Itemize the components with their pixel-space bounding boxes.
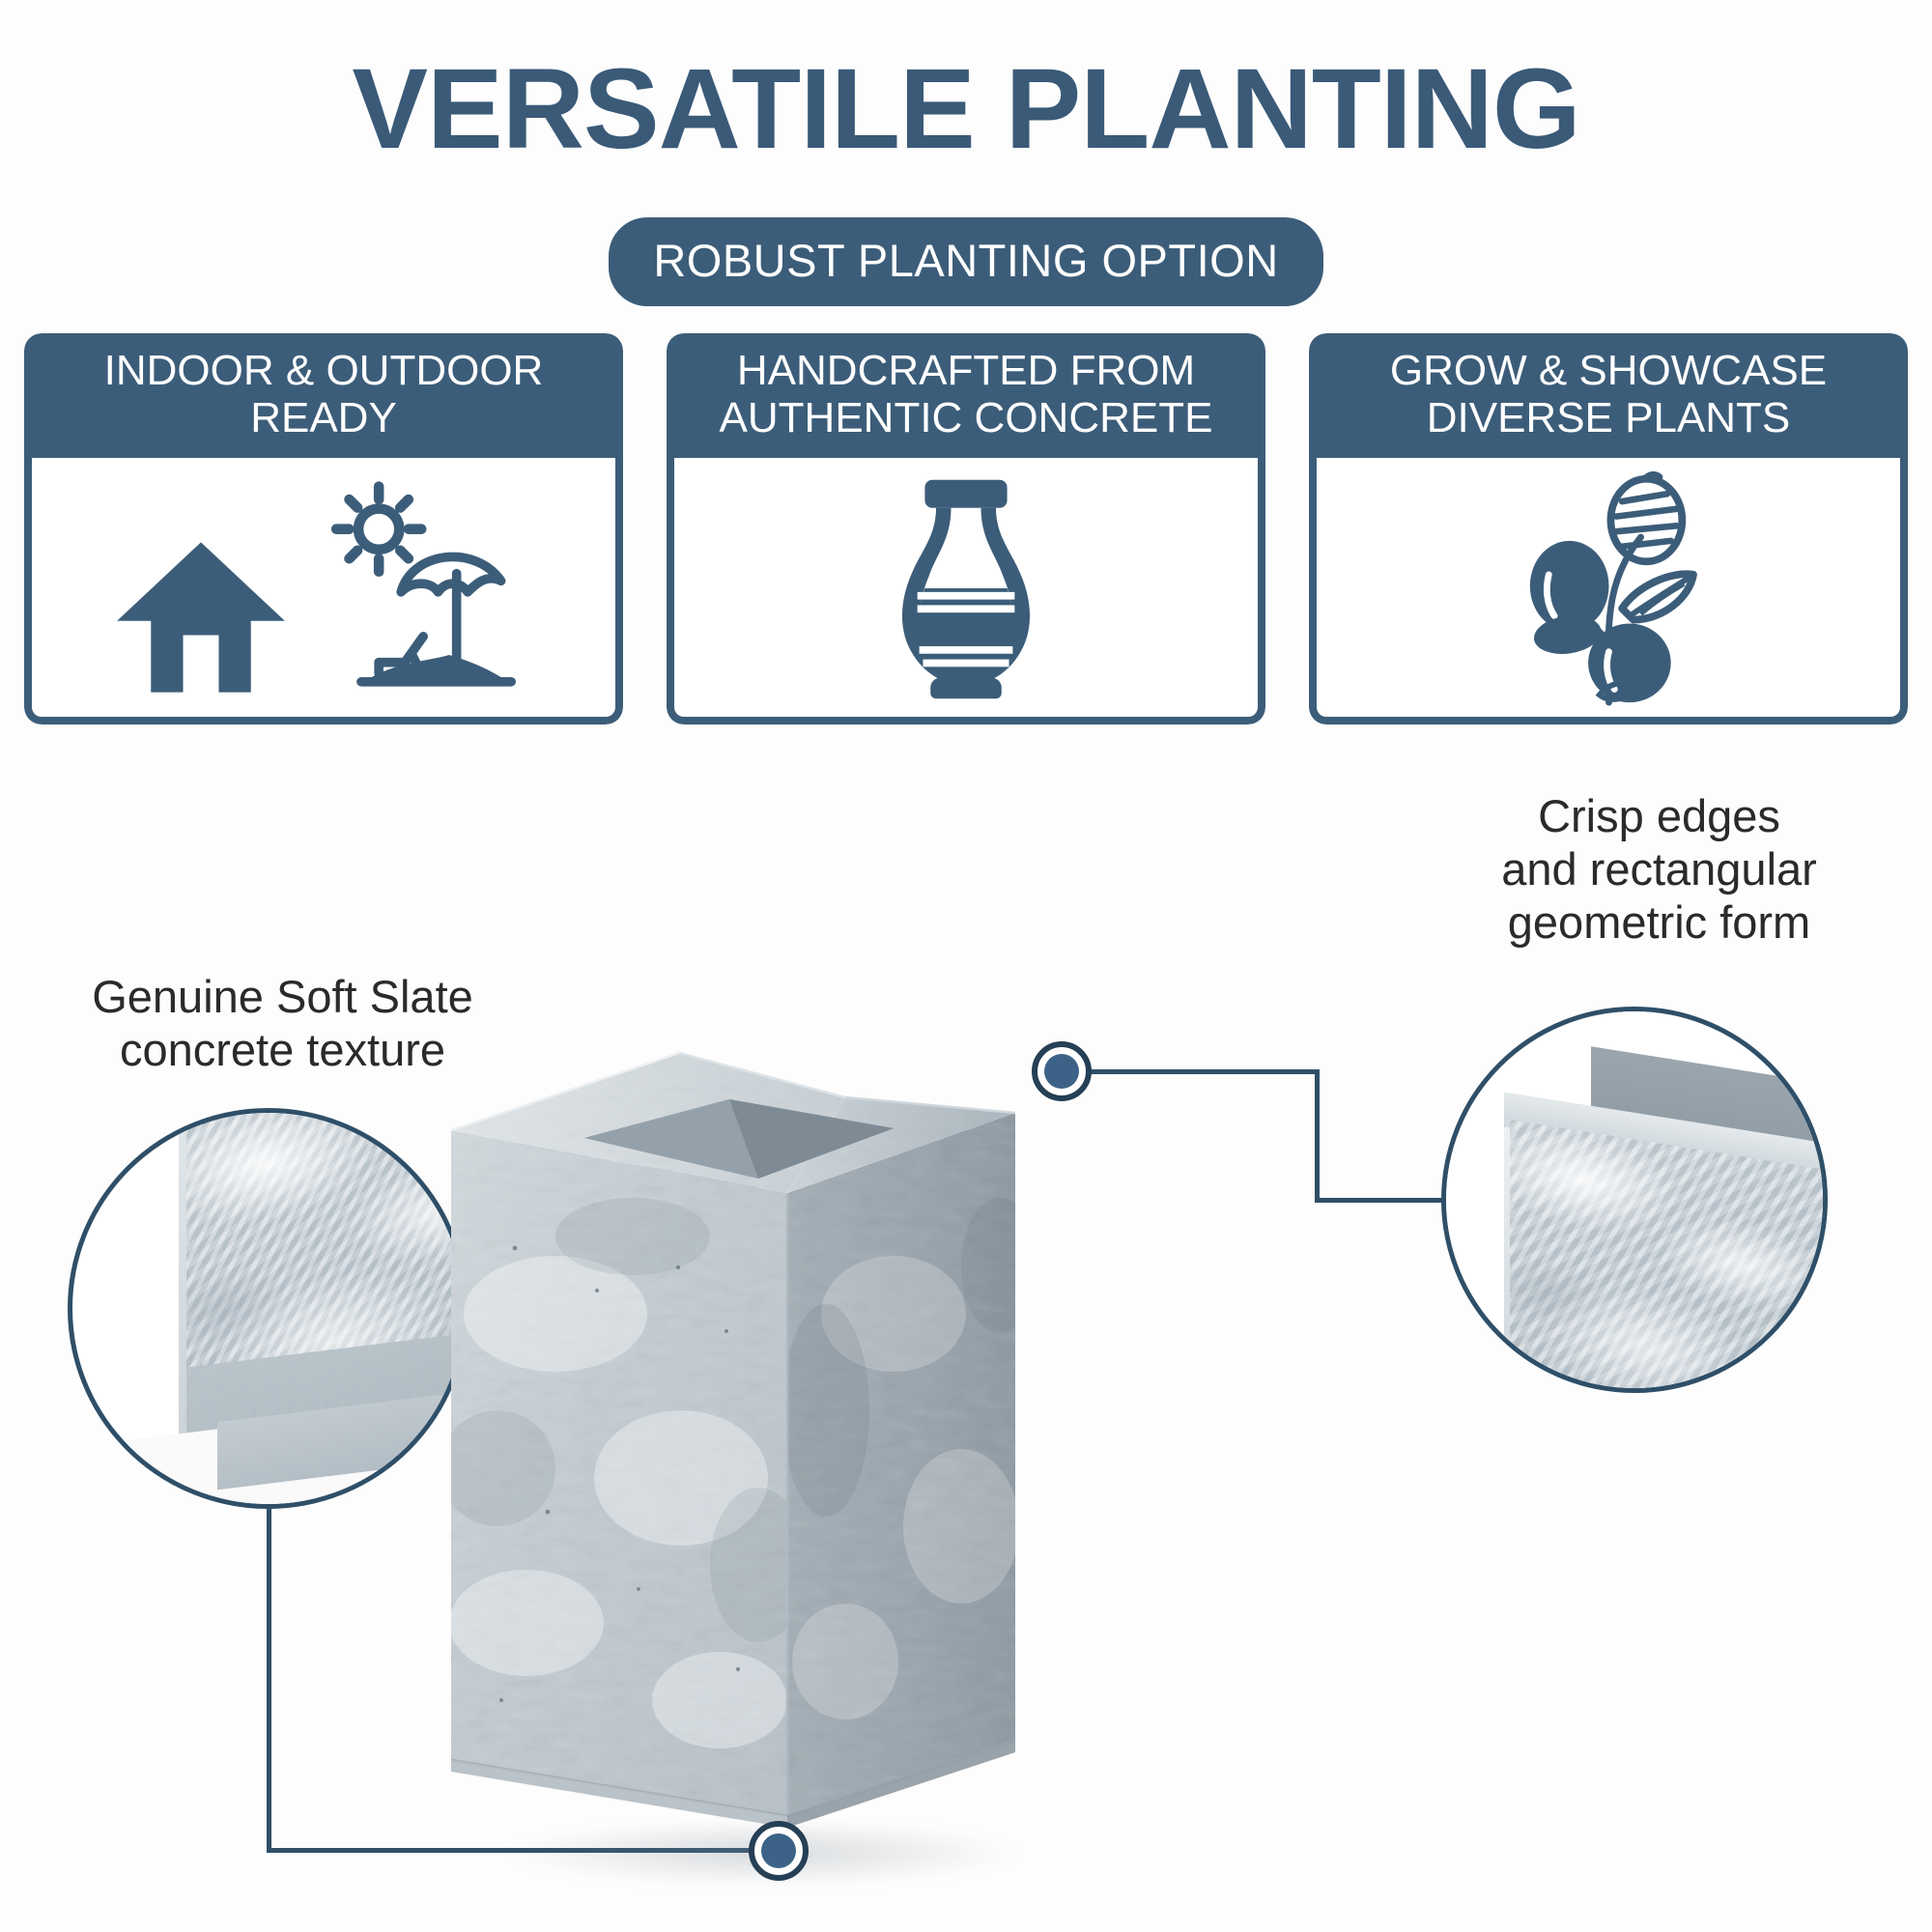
status-badge: ROBUST PLANTING OPTION bbox=[609, 217, 1322, 306]
card-icon-panel bbox=[667, 458, 1265, 724]
sun-and-beach-icon bbox=[316, 477, 538, 699]
card-heading: INDOOR & OUTDOOR READY bbox=[24, 333, 623, 458]
callout-marker-top-right[interactable] bbox=[1032, 1041, 1092, 1101]
card-heading: HANDCRAFTED FROM AUTHENTIC CONCRETE bbox=[667, 333, 1265, 458]
card-icon-panel bbox=[24, 458, 623, 724]
connector-right-segment-2 bbox=[1315, 1069, 1320, 1203]
badge-container: ROBUST PLANTING OPTION bbox=[0, 217, 1932, 306]
feature-card-authentic-concrete: HANDCRAFTED FROM AUTHENTIC CONCRETE bbox=[667, 333, 1265, 724]
vase-icon bbox=[879, 472, 1053, 704]
callout-marker-dot bbox=[761, 1833, 796, 1868]
product-image-concrete-planter bbox=[440, 1024, 1038, 1874]
card-icon-panel bbox=[1309, 458, 1908, 724]
callout-marker-dot bbox=[1044, 1054, 1079, 1089]
connector-right-segment-1 bbox=[1063, 1069, 1320, 1074]
feature-card-indoor-outdoor: INDOOR & OUTDOOR READY bbox=[24, 333, 623, 724]
annotation-right: Crisp edges and rectangular geometric fo… bbox=[1391, 790, 1927, 950]
annotation-right-line3: geometric form bbox=[1391, 896, 1927, 950]
connector-left-segment-1 bbox=[267, 1505, 271, 1853]
infographic-canvas: VERSATILE PLANTING ROBUST PLANTING OPTIO… bbox=[0, 0, 1932, 1932]
feature-card-diverse-plants: GROW & SHOWCASE DIVERSE PLANTS bbox=[1309, 333, 1908, 724]
feature-card-row: INDOOR & OUTDOOR READY bbox=[24, 333, 1908, 724]
detail-circle-texture bbox=[68, 1108, 469, 1509]
detail-circle-rim-corner bbox=[1441, 1007, 1828, 1393]
house-icon bbox=[109, 535, 293, 699]
annotation-right-line2: and rectangular bbox=[1391, 843, 1927, 896]
connector-right-segment-3 bbox=[1315, 1198, 1446, 1203]
berry-branch-icon bbox=[1505, 469, 1713, 706]
page-title: VERSATILE PLANTING bbox=[0, 50, 1932, 170]
annotation-right-line1: Crisp edges bbox=[1391, 790, 1927, 843]
callout-marker-bottom[interactable] bbox=[749, 1821, 809, 1881]
annotation-left-line1: Genuine Soft Slate bbox=[19, 971, 546, 1024]
card-heading: GROW & SHOWCASE DIVERSE PLANTS bbox=[1309, 333, 1908, 458]
